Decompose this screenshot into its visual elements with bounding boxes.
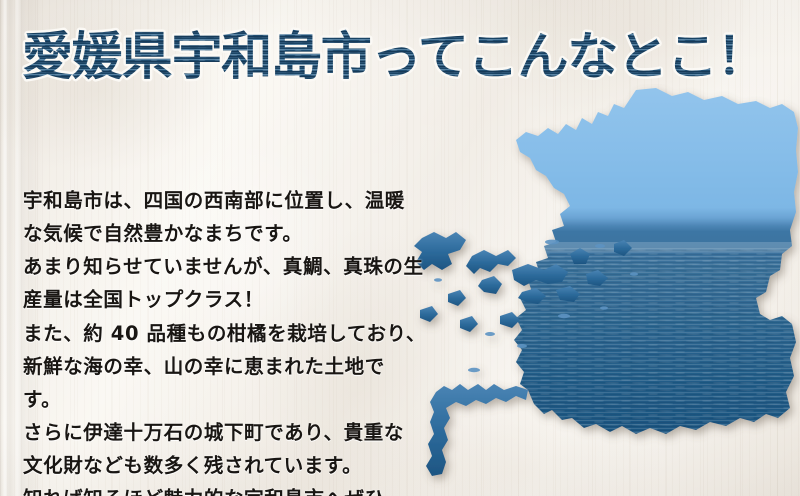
page-title: 愛媛県宇和島市ってこんなとこ！ 愛媛県宇和島市ってこんなとこ！: [22, 24, 762, 92]
uwajima-promo-poster: 愛媛県宇和島市ってこんなとこ！ 愛媛県宇和島市ってこんなとこ！ 宇和島市は、四国…: [0, 0, 800, 496]
page-title-text: 愛媛県宇和島市ってこんなとこ！: [22, 28, 766, 87]
description-text: 宇和島市は、四国の西南部に位置し、温暖 な気候で自然豊かなまちです。 あまり知ら…: [23, 118, 475, 496]
description-body: 宇和島市は、四国の西南部に位置し、温暖 な気候で自然豊かなまちです。 あまり知ら…: [23, 184, 475, 496]
